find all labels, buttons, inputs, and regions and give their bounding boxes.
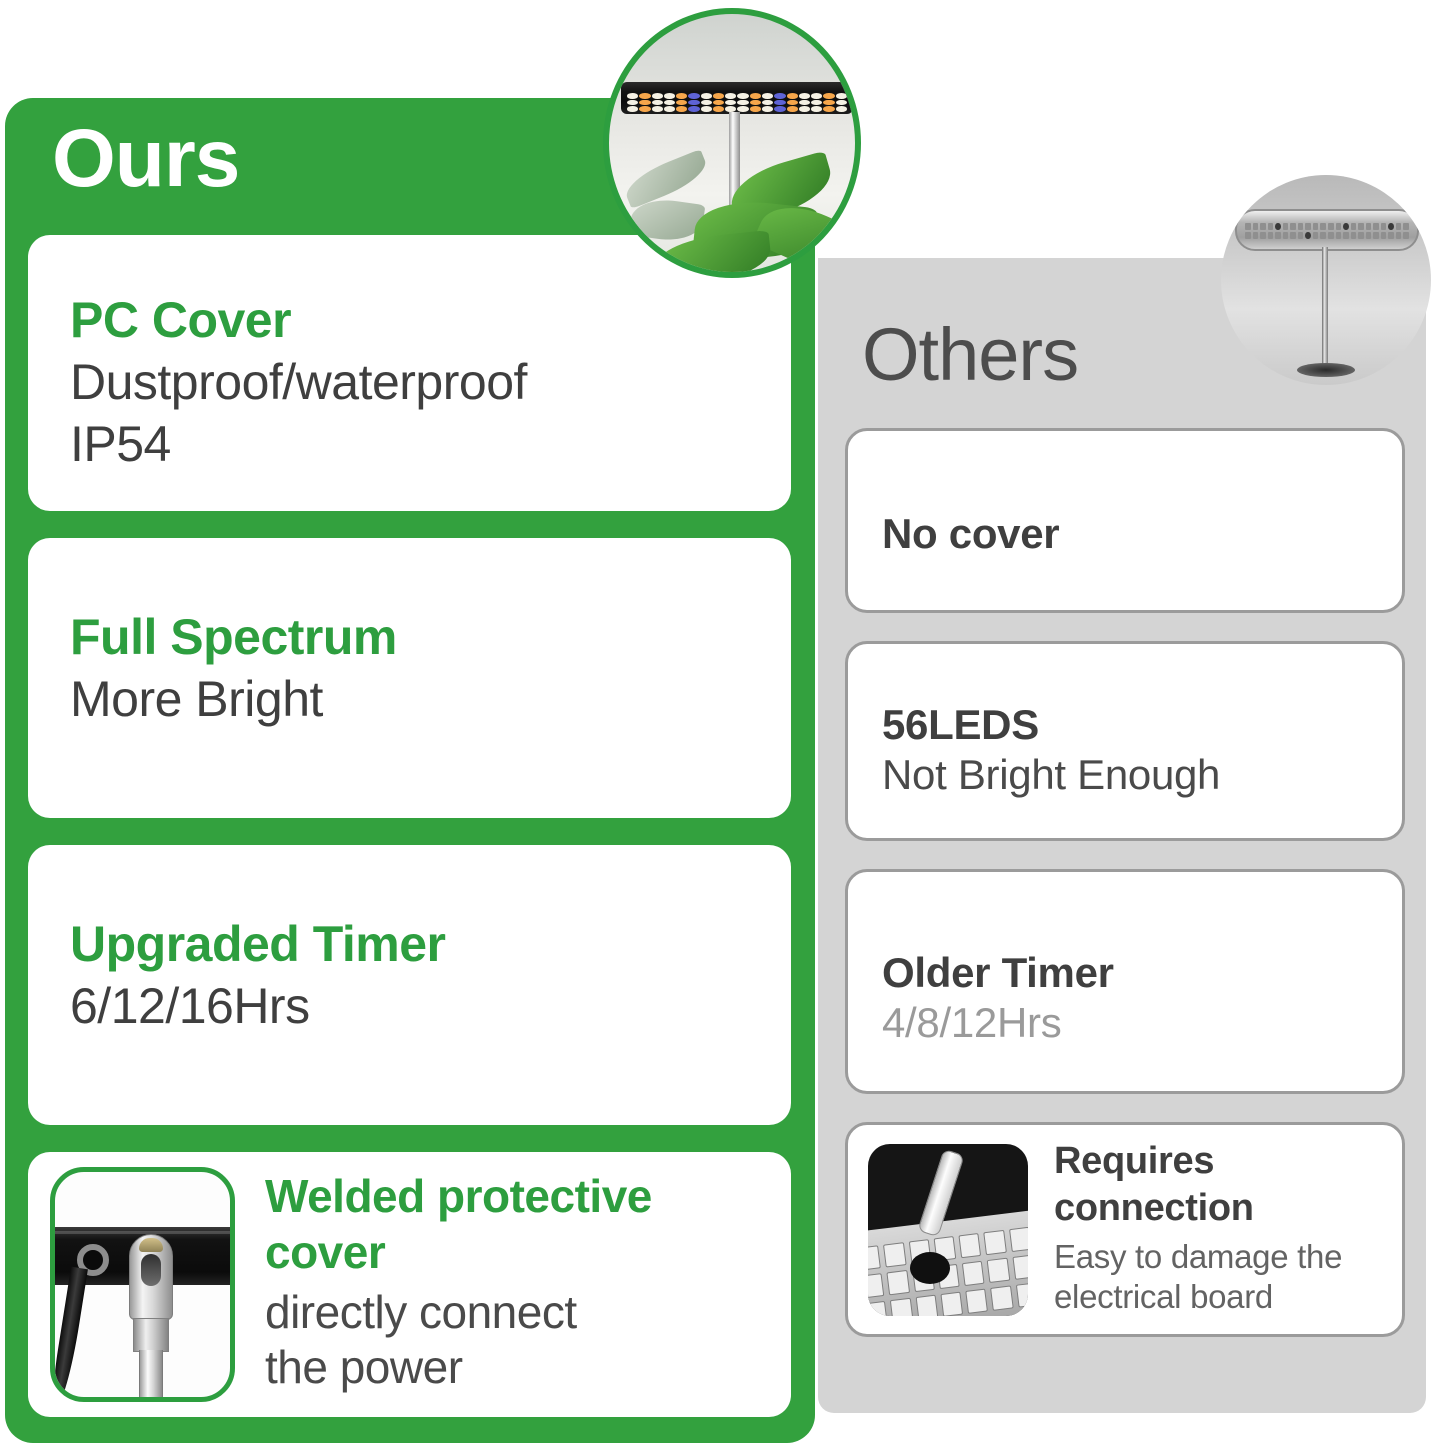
welded-cover-thumbnail-image: [50, 1167, 235, 1402]
others-card-heading-line1: Requires: [1054, 1142, 1388, 1182]
power-cable-shape: [50, 1267, 88, 1402]
others-card-subtext-line1: Not Bright Enough: [882, 750, 1368, 800]
ours-card-pc-cover: PC Cover Dustproof/waterproof IP54: [28, 235, 791, 511]
plug-connection-thumbnail-image: [868, 1144, 1028, 1316]
ours-card-subtext-line1: More Bright: [70, 668, 757, 730]
others-card-heading: No cover: [882, 511, 1368, 557]
ours-card-subtext-line1: Dustproof/waterproof: [70, 351, 757, 413]
ours-card-heading: PC Cover: [70, 293, 757, 347]
others-card-list: No cover 56LEDS Not Bright Enough Older …: [845, 428, 1405, 1337]
ours-card-subtext-line1: 6/12/16Hrs: [70, 975, 757, 1037]
ours-card-subtext-line2: IP54: [70, 413, 757, 475]
plug-knob-shape: [910, 1252, 950, 1284]
ours-card-heading: Upgraded Timer: [70, 917, 757, 971]
others-hero-circle-image: [1221, 175, 1431, 385]
ours-hero-circle-image: [603, 8, 861, 278]
others-card-56leds: 56LEDS Not Bright Enough: [845, 641, 1405, 841]
ours-card-subtext-line1: directly connect: [265, 1285, 773, 1340]
others-card-requires-connection: Requires connection Easy to damage the e…: [845, 1122, 1405, 1337]
pole-shaft-shape: [139, 1350, 163, 1402]
others-card-subtext-line1: Easy to damage the: [1054, 1237, 1388, 1277]
grow-light-bar-shape: [621, 82, 853, 114]
ours-card-text-block: Welded protective cover directly connect…: [235, 1173, 791, 1395]
ours-card-welded-cover: Welded protective cover directly connect…: [28, 1152, 791, 1417]
others-card-subtext-line2: electrical board: [1054, 1277, 1388, 1317]
others-card-heading: 56LEDS: [882, 702, 1368, 748]
pole-base-shape: [1297, 363, 1355, 377]
others-card-text-block: Requires connection Easy to damage the e…: [1028, 1142, 1402, 1318]
thin-pole-shape: [1322, 247, 1328, 371]
others-card-older-timer: Older Timer 4/8/12Hrs: [845, 869, 1405, 1094]
exposed-led-array-shape: [1245, 223, 1409, 239]
ours-card-heading: Full Spectrum: [70, 610, 757, 664]
ours-card-full-spectrum: Full Spectrum More Bright: [28, 538, 791, 818]
others-title: Others: [862, 318, 1078, 392]
ours-title: Ours: [52, 118, 239, 200]
pole-slot-shape: [141, 1254, 161, 1286]
others-card-heading: Older Timer: [882, 950, 1368, 996]
ours-card-list: PC Cover Dustproof/waterproof IP54 Full …: [28, 235, 791, 1417]
pole-collar-shape: [133, 1318, 169, 1352]
others-card-no-cover: No cover: [845, 428, 1405, 613]
uncovered-led-panel-shape: [1235, 209, 1419, 251]
led-array-shape: [627, 93, 847, 112]
ours-card-upgraded-timer: Upgraded Timer 6/12/16Hrs: [28, 845, 791, 1125]
ours-card-subtext-line2: the power: [265, 1340, 773, 1395]
pole-cap-shape: [139, 1238, 163, 1252]
others-card-subtext-line1: 4/8/12Hrs: [882, 998, 1368, 1048]
others-card-heading-line2: connection: [1054, 1189, 1388, 1229]
ours-card-heading-line1: Welded protective: [265, 1173, 773, 1221]
ours-card-heading-line2: cover: [265, 1229, 773, 1277]
